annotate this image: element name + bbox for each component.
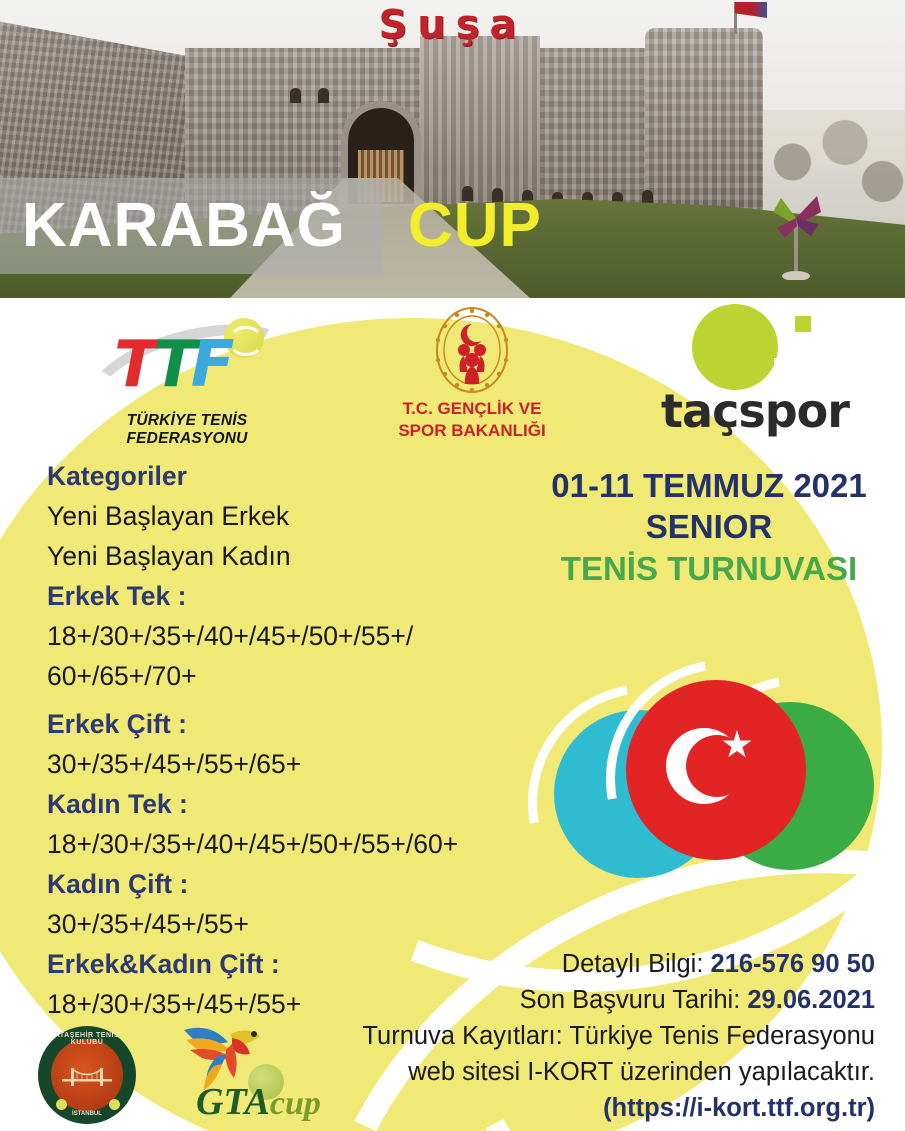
registration-url[interactable]: (https://i-kort.ttf.org.tr) (315, 1090, 875, 1126)
sponsor-logo-row: TTF TÜRKİYE TENİS FEDERASYONU (0, 298, 905, 448)
ttf-logo: TTF TÜRKİYE TENİS FEDERASYONU (72, 312, 302, 442)
fortress-photo-banner: Şuşa KARABAĞ CUP (0, 0, 905, 298)
beginner-women: Yeni Başlayan Kadın (47, 536, 537, 576)
ministry-logo-name: T.C. GENÇLİK VE SPOR BAKANLIĞI (372, 398, 572, 442)
contact-info-label: Detaylı Bilgi: (562, 950, 704, 978)
contact-phone: 216-576 90 50 (711, 950, 875, 978)
tacspor-wordmark: taçspor (630, 384, 880, 438)
wall-window (290, 88, 301, 103)
event-headline: 01-11 TEMMUZ 2021 SENIOR TENİS TURNUVASI (520, 466, 898, 590)
category-label-mens-singles: Erkek Tek : (47, 576, 537, 616)
spacer (47, 696, 537, 704)
tacspor-t-notch (795, 316, 811, 332)
ttf-letter-3: F (191, 328, 229, 402)
category-values-womens-doubles: 30+/35+/45+/55+ (47, 904, 537, 944)
category-values-womens-singles: 18+/30+/35+/40+/45+/50+/55+/60+ (47, 824, 537, 864)
ttf-letter-2: T (153, 328, 191, 402)
tournament-poster: Şuşa KARABAĞ CUP TTF TÜRKİYE TENİS FEDER… (0, 0, 905, 1131)
club-badge-ball-icon (109, 1099, 120, 1110)
poster-title: KARABAĞ (22, 186, 346, 266)
contact-info-line: Detaylı Bilgi: 216-576 90 50 (315, 946, 875, 982)
ttf-tennis-ball-icon (224, 318, 264, 358)
susa-monument-sign: Şuşa (0, 2, 905, 48)
gtacup-wordmark: GTAcup (196, 1080, 321, 1124)
wall-window (318, 88, 329, 103)
club-name-top: ATAŞEHİR TENİS KULÜBÜ (38, 1032, 136, 1046)
gtacup-part-2: cup (270, 1085, 321, 1122)
ministry-logo: T.C. GENÇLİK VE SPOR BAKANLIĞI (372, 306, 572, 446)
poster-title-accent: CUP (408, 186, 542, 266)
tennis-balls-graphic (548, 680, 878, 895)
ministry-line-1: T.C. GENÇLİK VE (372, 398, 572, 420)
event-name: TENİS TURNUVASI (520, 548, 898, 590)
tennis-ball-red-turkish-flag (626, 680, 806, 860)
event-level: SENIOR (520, 506, 898, 548)
tacspor-mark-icon (692, 304, 778, 390)
category-label-womens-doubles: Kadın Çift : (47, 864, 537, 904)
categories-heading: Kategoriler (47, 456, 537, 496)
category-label-mens-doubles: Erkek Çift : (47, 704, 537, 744)
category-values-mens-singles-1: 18+/30+/35+/40+/45+/50+/55+/ (47, 616, 537, 656)
category-label-womens-singles: Kadın Tek : (47, 784, 537, 824)
deadline-line: Son Başvuru Tarihi: 29.06.2021 (315, 982, 875, 1018)
deadline-label: Son Başvuru Tarihi: (520, 986, 741, 1014)
bridge-icon (62, 1066, 112, 1088)
tacspor-logo: taçspor (630, 304, 880, 444)
poster-body: TTF TÜRKİYE TENİS FEDERASYONU (0, 298, 905, 1131)
ttf-logo-name: TÜRKİYE TENİS FEDERASYONU (72, 412, 302, 448)
ttf-letter-1: T (114, 328, 153, 402)
categories-block: Kategoriler Yeni Başlayan Erkek Yeni Baş… (47, 456, 537, 1024)
registration-line-1: Turnuva Kayıtları: Türkiye Tenis Federas… (315, 1018, 875, 1054)
club-name-bottom: İSTANBUL (38, 1111, 136, 1117)
event-dates: 01-11 TEMMUZ 2021 (520, 466, 898, 506)
club-badge-ball-icon (56, 1099, 67, 1110)
ministry-seal-icon (434, 306, 510, 398)
category-values-mens-singles-2: 60+/65+/70+ (47, 656, 537, 696)
tacspor-t-crossbar (780, 334, 814, 348)
gtacup-part-1: GTA (196, 1081, 270, 1123)
deadline-date: 29.06.2021 (747, 986, 875, 1014)
category-values-mens-doubles: 30+/35+/45+/55+/65+ (47, 744, 537, 784)
beginner-men: Yeni Başlayan Erkek (47, 496, 537, 536)
ttf-monogram: TTF (114, 328, 229, 402)
atasehir-tennis-club-logo: ATAŞEHİR TENİS KULÜBÜ İSTANBUL (38, 1026, 138, 1124)
ministry-line-2: SPOR BAKANLIĞI (372, 420, 572, 442)
gtacup-logo: GTAcup (168, 1020, 338, 1126)
crescent-icon (666, 728, 742, 804)
pinwheel-sculpture (767, 184, 827, 280)
registration-line-2: web sitesi I-KORT üzerinden yapılacaktır… (315, 1054, 875, 1090)
contact-block: Detaylı Bilgi: 216-576 90 50 Son Başvuru… (315, 946, 875, 1126)
